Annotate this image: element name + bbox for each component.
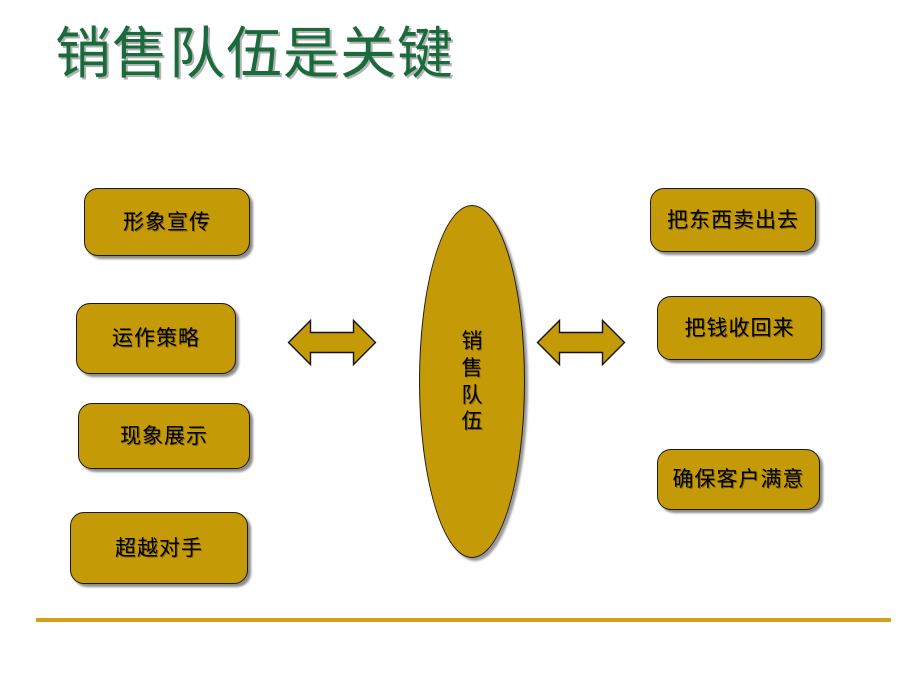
left-box-3-label: 现象展示 [120,426,208,447]
page-title: 销售队伍是关键 [55,26,454,85]
right-box-3[interactable]: 确保客户满意 [657,449,820,510]
right-box-1[interactable]: 把东西卖出去 [650,188,816,252]
left-box-2[interactable]: 运作策略 [76,303,236,374]
right-box-1-label: 把东西卖出去 [667,210,799,231]
double-arrow-icon [286,312,378,374]
left-box-2-label: 运作策略 [112,328,200,349]
right-connector[interactable] [535,312,627,374]
left-box-3[interactable]: 现象展示 [78,403,250,469]
left-box-4-label: 超越对手 [115,538,203,559]
left-box-1[interactable]: 形象宣传 [84,188,250,256]
right-box-2-label: 把钱收回来 [685,318,795,339]
center-node[interactable]: 销售队伍 [419,205,525,558]
center-node-label: 销售队伍 [462,328,483,436]
right-box-3-label: 确保客户满意 [673,469,805,490]
left-box-1-label: 形象宣传 [123,212,211,233]
slide-canvas: 销售队伍是关键 形象宣传 运作策略 现象展示 超越对手 销售队伍 把东西卖出去 … [0,0,920,690]
left-box-4[interactable]: 超越对手 [70,512,248,584]
right-box-2[interactable]: 把钱收回来 [657,296,822,360]
footer-divider [36,618,891,622]
left-connector[interactable] [286,312,378,374]
double-arrow-icon [535,312,627,374]
